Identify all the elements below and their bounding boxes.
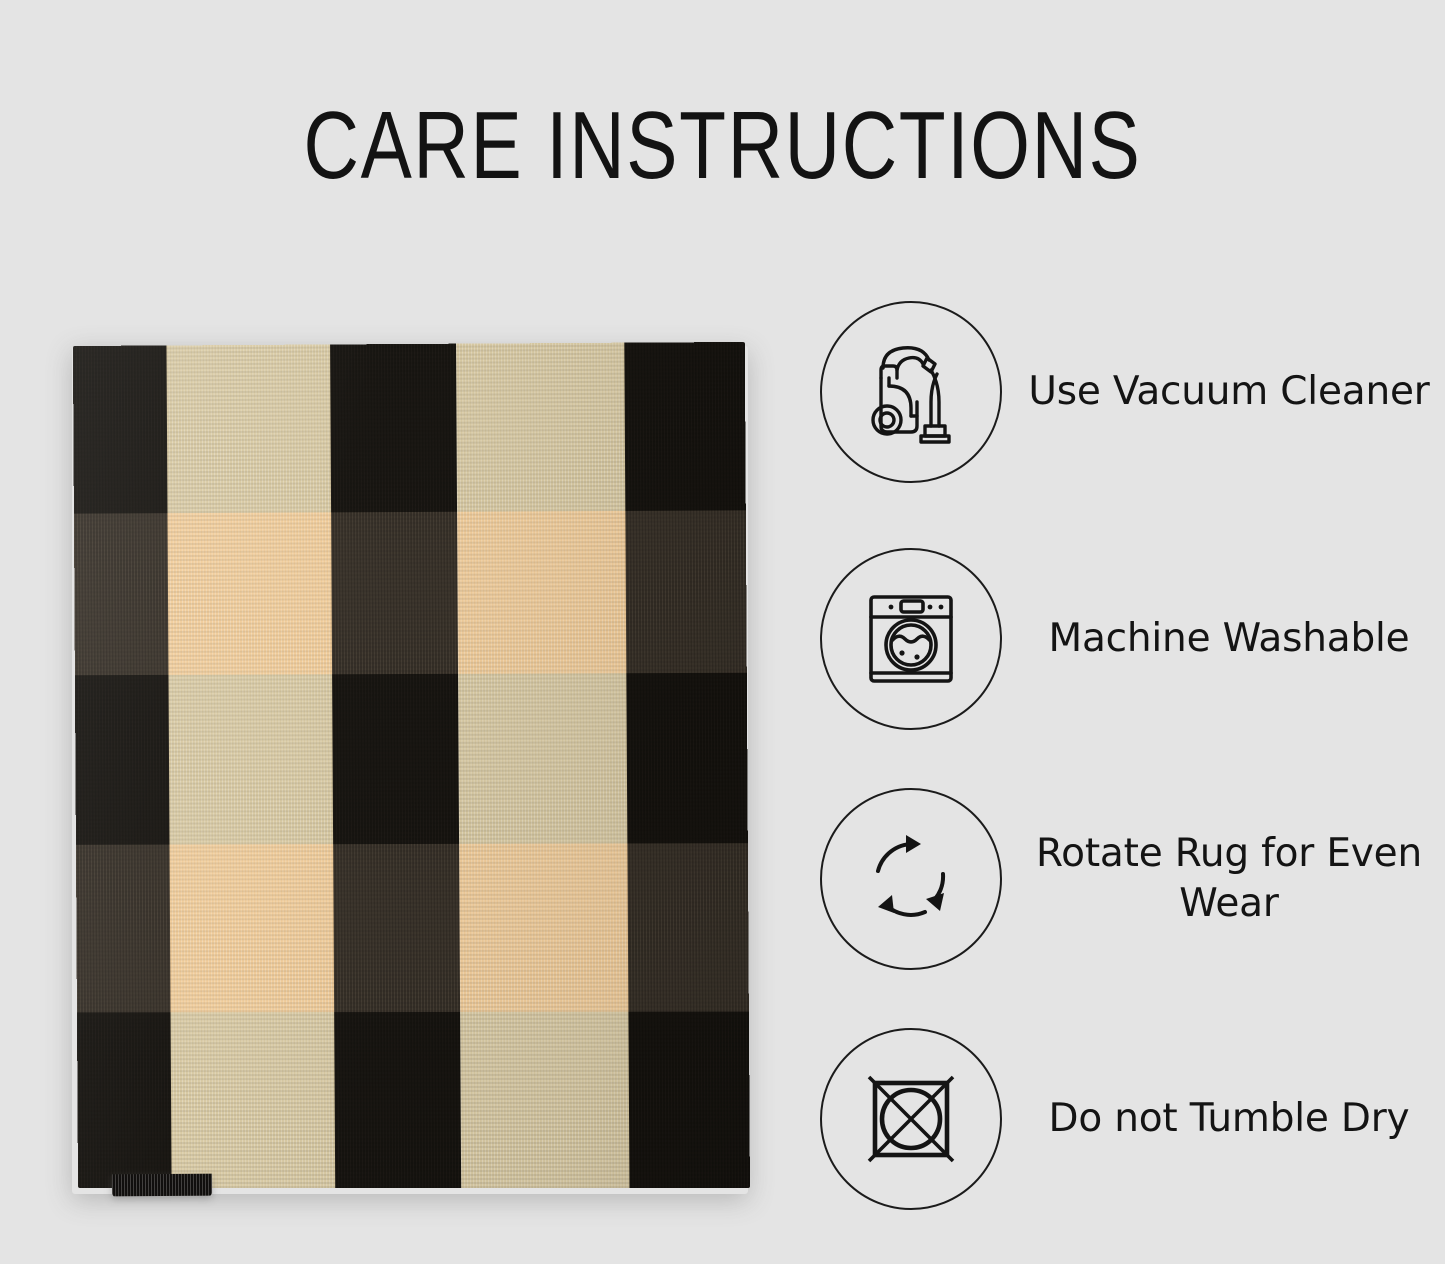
- icon-circle: [820, 301, 1002, 483]
- plaid-cell: [624, 342, 745, 511]
- plaid-cell: [334, 1012, 461, 1188]
- plaid-cell: [170, 844, 335, 1012]
- instruction-row-vacuum: Use Vacuum Cleaner: [820, 297, 1430, 487]
- plaid-cell: [332, 674, 459, 844]
- plaid-cell: [456, 343, 625, 512]
- vacuum-cleaner-icon: [851, 332, 971, 452]
- care-instructions-page: CARE INSTRUCTIONS: [0, 0, 1445, 1264]
- plaid-cell: [628, 1012, 750, 1188]
- plaid-cell: [75, 675, 170, 845]
- instruction-row-rotate-rug: Rotate Rug for Even Wear: [820, 784, 1430, 974]
- instruction-label: Machine Washable: [1002, 614, 1430, 664]
- plaid-cell: [627, 843, 749, 1012]
- plaid-cell: [459, 843, 628, 1011]
- plaid-cell: [74, 513, 169, 675]
- icon-circle: [820, 788, 1002, 970]
- no-tumble-dry-icon: [851, 1059, 971, 1179]
- plaid-cell: [330, 344, 457, 513]
- rotate-arrows-icon: [851, 819, 971, 939]
- plaid-cell: [73, 345, 168, 513]
- washing-machine-icon: [851, 579, 971, 699]
- plaid-cell: [458, 673, 627, 844]
- plaid-cell: [626, 673, 748, 844]
- plaid-cell: [625, 510, 746, 673]
- plaid-cell: [77, 1012, 172, 1188]
- plaid-cell: [457, 511, 626, 674]
- plaid-cell: [76, 845, 171, 1013]
- plaid-cell: [168, 512, 333, 675]
- plaid-cell: [166, 344, 331, 513]
- instruction-row-no-tumble-dry: Do not Tumble Dry: [820, 1024, 1430, 1214]
- plaid-cell: [168, 674, 333, 844]
- rug-folded-edge-texture: [112, 1174, 212, 1197]
- instruction-label: Rotate Rug for Even Wear: [1002, 829, 1430, 929]
- instruction-label: Use Vacuum Cleaner: [1002, 367, 1430, 417]
- plaid-cell: [331, 512, 458, 675]
- instruction-row-machine-washable: Machine Washable: [820, 544, 1430, 734]
- rug-product-image: [64, 336, 752, 1198]
- plaid-cell: [171, 1012, 336, 1188]
- rug-plaid-surface: [73, 342, 750, 1188]
- plaid-cell: [333, 844, 460, 1012]
- instruction-label: Do not Tumble Dry: [1002, 1094, 1430, 1144]
- page-title: CARE INSTRUCTIONS: [145, 98, 1301, 194]
- rug-folded-edge: [112, 1174, 212, 1197]
- icon-circle: [820, 1028, 1002, 1210]
- plaid-cell: [460, 1012, 629, 1188]
- icon-circle: [820, 548, 1002, 730]
